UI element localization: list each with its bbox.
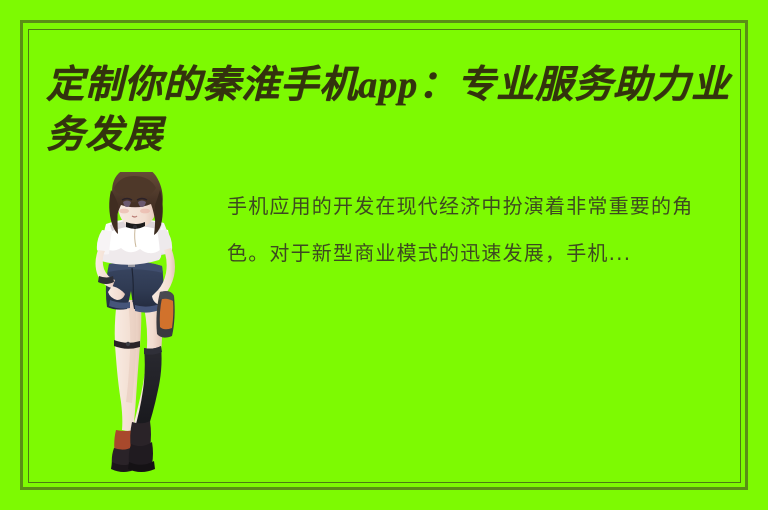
article-excerpt: 手机应用的开发在现代经济中扮演着非常重要的角色。对于新型商业模式的迅速发展，手机… <box>227 183 735 277</box>
anime-girl-illustration <box>76 172 196 474</box>
page-title: 定制你的秦淮手机app：专业服务助力业务发展 <box>46 60 746 160</box>
boots <box>111 421 155 472</box>
article-card: 定制你的秦淮手机app：专业服务助力业务发展 手机应用的开发在现代经济中扮演着非… <box>0 0 768 510</box>
held-accessory <box>156 291 174 338</box>
illustration-svg <box>76 172 196 474</box>
